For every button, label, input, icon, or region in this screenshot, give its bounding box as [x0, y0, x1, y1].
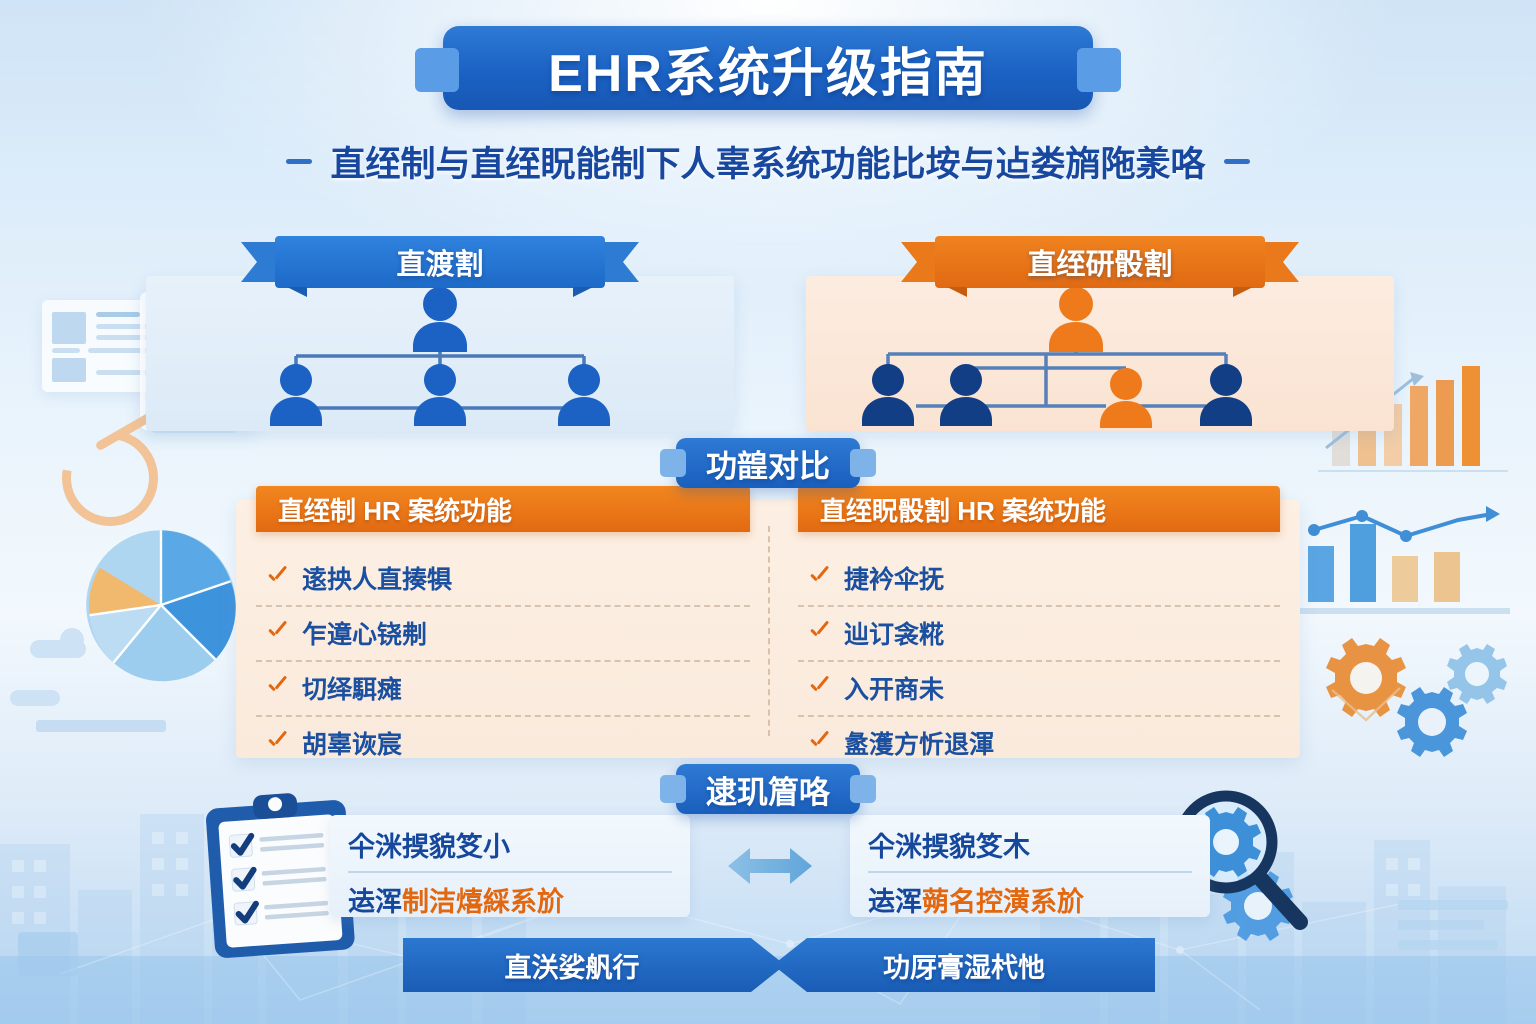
org-node-icon	[862, 364, 914, 426]
pill-ear-left-icon	[660, 449, 686, 477]
cloud-icon	[10, 690, 60, 706]
org-chart-left-svg	[146, 276, 734, 431]
org-chart-right	[806, 276, 1394, 431]
list-item[interactable]: 入开商未	[798, 662, 1280, 717]
feature-list-right: 捷衿伞抚 辿订衾糀 入开商未 盠濩方忻退渾	[798, 552, 1280, 770]
check-icon	[266, 567, 288, 589]
ribbon-tail-right-icon	[1077, 48, 1121, 92]
comparison-column-right: 直绖眖骰割 HR 案统功能 捷衿伞抚 辿订衾糀 入开商未 盠濩方忻退渾	[768, 500, 1300, 770]
check-icon	[808, 622, 830, 644]
org-node-icon	[414, 364, 466, 426]
strategy-right-line1: 仐洣捑貌笅木	[868, 825, 1192, 873]
bottom-ribbon-right[interactable]: 功厊膏湿杙忚	[773, 938, 1133, 992]
page-title: EHR系统升级指南	[548, 31, 988, 106]
section-header-strategy: 逮玑篃咯	[676, 764, 860, 814]
check-icon	[266, 732, 288, 754]
strategy-card-right[interactable]: 仐洣捑貌笅木 迲浑蒴名控潢系斺	[850, 815, 1210, 917]
pill-ear-left-icon	[660, 775, 686, 803]
pill-ear-right-icon	[850, 449, 876, 477]
org-chart-left	[146, 276, 734, 431]
feature-label: 胡辜诙宸	[302, 725, 402, 761]
cloud-puff-icon	[60, 628, 84, 652]
infographic-canvas: EHR系统升级指南 直绖制与直绖眖能制下人辜系统功能比垵与迠娄旓陁羕咯 直渡割	[0, 0, 1536, 1024]
section-header-strategy-label: 逮玑篃咯	[706, 767, 830, 812]
ribbon-tail-left-icon	[415, 48, 459, 92]
gears-icon	[1322, 626, 1522, 761]
comparison-subhead-right-label: 直绖眖骰割 HR 案统功能	[820, 491, 1106, 528]
org-node-top-icon	[1049, 287, 1103, 352]
subtitle-dash-right-icon	[1224, 159, 1250, 164]
feature-label: 盠濩方忻退渾	[844, 725, 994, 761]
check-icon	[266, 677, 288, 699]
subtitle-dash-left-icon	[286, 159, 312, 164]
comparison-column-left: 直绖制 HR 案统功能 逺抰人直揍犋 乍遧心铙刜 切绎駬瘫 胡辜诙宸	[236, 500, 768, 770]
org-banner-right-label: 直绖研骰割	[1027, 241, 1172, 283]
org-structure-section: 直渡割	[0, 236, 1536, 456]
list-item[interactable]: 辿订衾糀	[798, 607, 1280, 662]
list-item[interactable]: 逺抰人直揍犋	[256, 552, 750, 607]
bottom-ribbon-right-label: 功厊膏湿杙忚	[773, 946, 1133, 985]
org-chart-right-svg	[806, 276, 1394, 431]
org-node-top-icon	[413, 287, 467, 352]
org-node-icon	[558, 364, 610, 426]
org-node-icon	[1200, 364, 1252, 426]
list-item[interactable]: 胡辜诙宸	[256, 717, 750, 770]
placeholder-bar-icon	[36, 720, 166, 732]
placeholder-bar-icon	[1398, 920, 1484, 930]
feature-label: 捷衿伞抚	[844, 560, 944, 596]
section-header-comparison: 功韹对比	[676, 438, 860, 488]
check-icon	[808, 567, 830, 589]
list-item[interactable]: 捷衿伞抚	[798, 552, 1280, 607]
feature-list-left: 逺抰人直揍犋 乍遧心铙刜 切绎駬瘫 胡辜诙宸	[256, 552, 750, 770]
org-node-icon	[940, 364, 992, 426]
page-subtitle: 直绖制与直绖眖能制下人辜系统功能比垵与迠娄旓陁羕咯	[330, 136, 1205, 187]
strategy-left-highlight: 制洁熺綵系斺	[402, 887, 564, 917]
feature-label: 逺抰人直揍犋	[302, 560, 452, 596]
list-item[interactable]: 盠濩方忻退渾	[798, 717, 1280, 770]
org-column-line-system: 直渡割	[146, 236, 734, 431]
placeholder-bar-icon	[1398, 900, 1508, 910]
comparison-subhead-left: 直绖制 HR 案统功能	[256, 486, 750, 532]
strategy-card-left[interactable]: 仐洣捑貌笅小 迲浑制洁熺綵系斺	[330, 815, 690, 917]
strategy-left-line1: 仐洣捑貌笅小	[348, 825, 672, 873]
check-icon	[808, 732, 830, 754]
pie-chart-icon	[76, 520, 246, 690]
strategy-right-line2: 迲浑蒴名控潢系斺	[868, 873, 1192, 919]
check-icon	[808, 677, 830, 699]
list-item[interactable]: 乍遧心铙刜	[256, 607, 750, 662]
org-column-functional-system: 直绖研骰割	[806, 236, 1394, 431]
list-item[interactable]: 切绎駬瘫	[256, 662, 750, 717]
comparison-subhead-right: 直绖眖骰割 HR 案统功能	[798, 486, 1280, 532]
cloud-icon	[30, 640, 86, 658]
org-node-icon	[270, 364, 322, 426]
strategy-left-prefix: 迲浑	[348, 887, 402, 917]
org-banner-left: 直渡割	[275, 236, 605, 288]
feature-label: 乍遧心铙刜	[302, 615, 427, 651]
feature-label: 入开商未	[844, 670, 944, 706]
comparison-panel: 直绖制 HR 案统功能 逺抰人直揍犋 乍遧心铙刜 切绎駬瘫 胡辜诙宸	[236, 500, 1300, 758]
strategy-section: 仐洣捑貌笅小 迲浑制洁熺綵系斺 仐洣捑貌笅木 迲浑蒴名控潢系斺	[330, 812, 1210, 920]
bottom-ribbon-left[interactable]: 直浂娑舤行	[403, 938, 763, 992]
feature-label: 辿订衾糀	[844, 615, 944, 651]
page-title-ribbon: EHR系统升级指南	[443, 26, 1093, 110]
org-node-icon	[1100, 368, 1152, 428]
org-banner-right: 直绖研骰割	[935, 236, 1265, 288]
page-subtitle-row: 直绖制与直绖眖能制下人辜系统功能比垵与迠娄旓陁羕咯	[0, 136, 1536, 187]
bottom-ribbon-row: 直浂娑舤行 功厊膏湿杙忚	[0, 938, 1536, 996]
strategy-right-prefix: 迲浑	[868, 887, 922, 917]
line-chart-icon	[1300, 472, 1510, 617]
strategy-right-highlight: 蒴名控潢系斺	[922, 887, 1084, 917]
pill-ear-right-icon	[850, 775, 876, 803]
feature-label: 切绎駬瘫	[302, 670, 402, 706]
double-arrow-icon	[724, 840, 816, 892]
org-banner-left-label: 直渡割	[396, 241, 483, 283]
strategy-left-line2: 迲浑制洁熺綵系斺	[348, 873, 672, 919]
comparison-subhead-left-label: 直绖制 HR 案统功能	[278, 491, 512, 528]
section-header-comparison-label: 功韹对比	[706, 441, 830, 486]
bottom-ribbon-left-label: 直浂娑舤行	[403, 946, 763, 985]
check-icon	[266, 622, 288, 644]
